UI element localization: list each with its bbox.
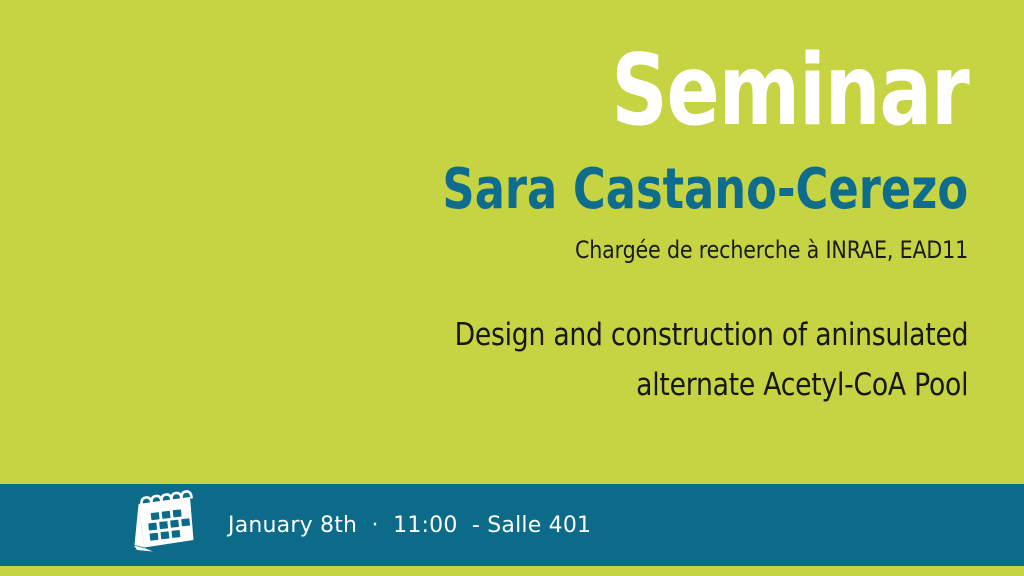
bottom-accent-strip <box>0 566 1024 576</box>
calendar-icon <box>124 483 204 563</box>
talk-title-line-1: Design and construction of aninsulated <box>454 310 968 360</box>
page-title: Seminar <box>611 42 968 142</box>
talk-title: Design and construction of aninsulated a… <box>454 310 968 410</box>
seminar-poster: Seminar Sara Castano-Cerezo Chargée de r… <box>0 0 1024 576</box>
speaker-name: Sara Castano-Cerezo <box>442 161 968 220</box>
speaker-affiliation: Chargée de recherche à INRAE, EAD11 <box>575 236 968 265</box>
event-details: January 8th · 11:00 - Salle 401 <box>228 484 591 566</box>
talk-title-line-2: alternate Acetyl-CoA Pool <box>454 360 968 410</box>
event-footer-band: January 8th · 11:00 - Salle 401 <box>0 484 1024 566</box>
poster-content: Seminar Sara Castano-Cerezo Chargée de r… <box>0 0 1024 484</box>
